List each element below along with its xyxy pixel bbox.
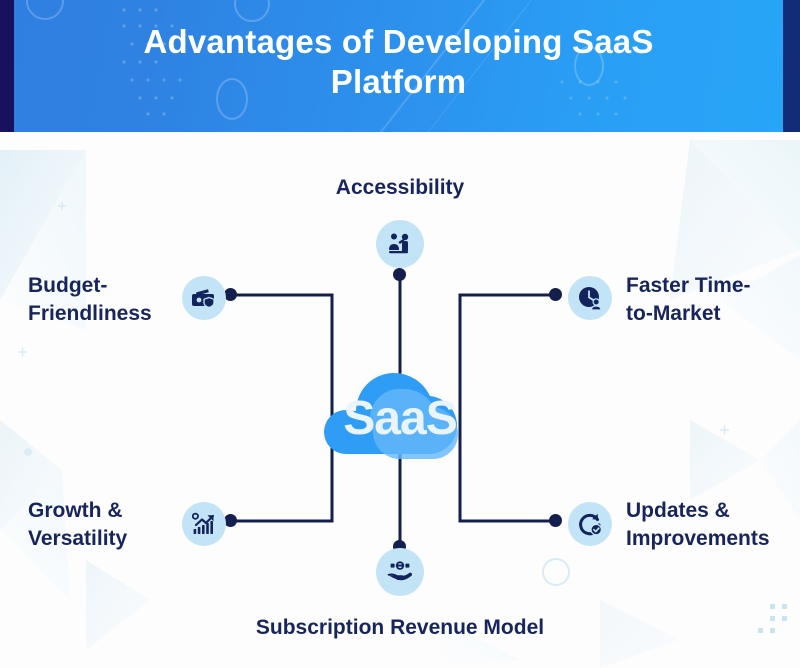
node-label-updates-improvements-line-2: Improvements [626,527,770,550]
node-label-budget-friendliness: Budget- Friendliness [28,272,208,328]
cloud-label: SaaS [296,345,504,473]
page-title: Advantages of Developing SaaS Platform [14,0,783,103]
clock-person-icon [578,286,603,311]
node-label-budget-friendliness-line-1: Budget- [28,274,107,297]
node-icon-subscription-revenue-model[interactable] [376,548,424,596]
connector-dot-faster [549,288,562,301]
node-label-faster-time-to-market-line-1: Faster Time- [626,274,751,297]
node-label-growth-versatility-line-2: Versatility [28,527,127,550]
connector-dot-accessibility [393,268,406,281]
page-title-line-2: Platform [331,63,466,100]
page-title-line-1: Advantages of Developing SaaS [143,23,653,60]
node-label-updates-improvements: Updates & Improvements [626,497,800,553]
accessibility-people-icon [387,231,413,257]
connector-dot-updates [549,514,562,527]
infographic-canvas: Advantages of Developing SaaS Platform [0,0,800,668]
node-label-updates-improvements-line-1: Updates & [626,499,730,522]
hand-coins-icon [387,559,413,585]
node-label-growth-versatility: Growth & Versatility [28,497,208,553]
node-icon-faster-time-to-market[interactable] [568,276,612,320]
saas-cloud-logo: SaaS [296,345,504,473]
node-label-faster-time-to-market-line-2: to-Market [626,302,721,325]
node-icon-updates-improvements[interactable] [568,502,612,546]
node-label-budget-friendliness-line-2: Friendliness [28,302,152,325]
node-label-growth-versatility-line-1: Growth & [28,499,123,522]
node-label-faster-time-to-market: Faster Time- to-Market [626,272,800,328]
node-icon-accessibility[interactable] [376,220,424,268]
node-label-accessibility: Accessibility [190,174,610,202]
node-label-subscription-revenue-model: Subscription Revenue Model [190,614,610,642]
refresh-check-icon [578,512,603,537]
